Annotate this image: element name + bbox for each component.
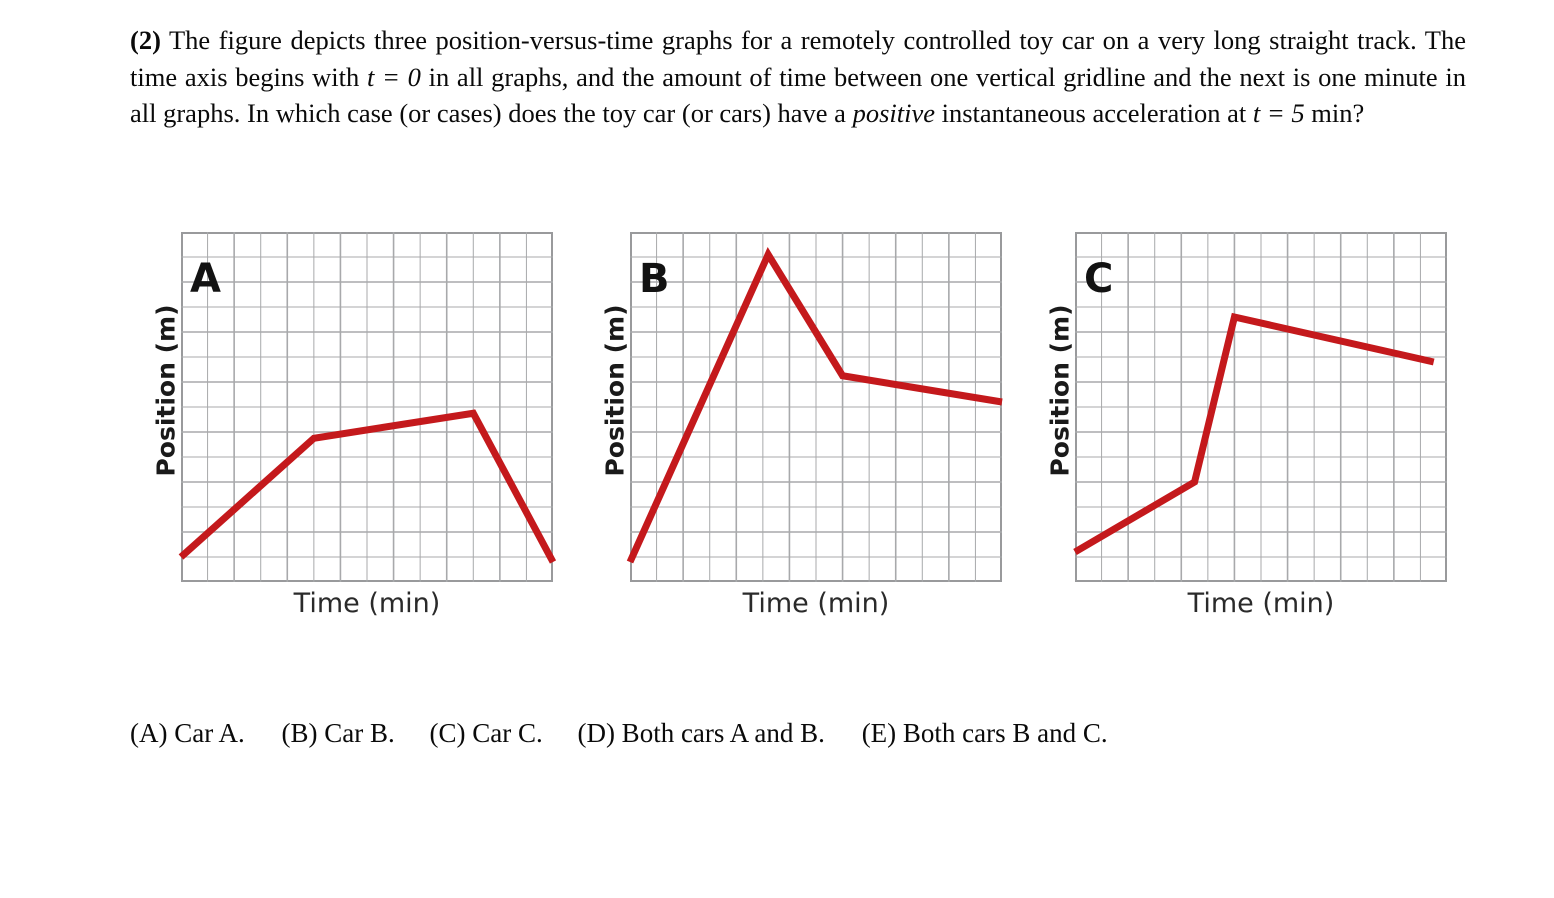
question-text: (2) The figure depicts three position-ve… [130,22,1466,132]
emphasis-positive: positive [853,98,935,128]
question-sentence-4a: does the toy car (or cars) have a [508,98,852,128]
answer-option-d[interactable]: (D) Both cars A and B. [577,718,824,749]
series-polyline-b [630,255,1002,563]
answer-choices: (A) Car A. (B) Car B. (C) Car C. (D) Bot… [130,718,1470,749]
graph-panel-a: Position (m) A Time (min) [132,226,552,646]
panel-label-c: C [1084,259,1113,299]
math-t-equals-5: t = 5 [1253,98,1305,128]
answer-option-b[interactable]: (B) Car B. [281,718,394,749]
data-line-b [630,232,1002,582]
y-axis-label-a: Position (m) [152,261,181,521]
question-sentence-4b: instantaneous acceleration at [935,98,1253,128]
answer-option-a[interactable]: (A) Car A. [130,718,245,749]
question-sentence-2b: in all graphs, and the amount of time [421,62,826,92]
question-number: (2) [130,25,161,55]
y-axis-label-c: Position (m) [1046,261,1075,521]
plot-area-c [1075,232,1447,582]
x-axis-label-a: Time (min) [181,588,553,619]
question-sentence-1: The figure depicts three position-versus… [169,25,1149,55]
y-axis-label-b: Position (m) [601,261,630,521]
x-axis-label-c: Time (min) [1075,588,1447,619]
data-line-a [181,232,553,582]
plot-area-a [181,232,553,582]
series-polyline-c [1075,317,1434,552]
series-polyline-a [181,413,553,562]
panel-label-a: A [190,259,221,299]
panel-label-b: B [639,259,670,299]
graph-panel-b: Position (m) B Time (min) [581,226,1001,646]
math-t-equals-0: t = 0 [367,62,421,92]
plot-area-b [630,232,1002,582]
graph-panel-c: Position (m) C Time (min) [1026,226,1446,646]
answer-option-c[interactable]: (C) Car C. [429,718,542,749]
question-block: (2) The figure depicts three position-ve… [130,22,1466,132]
figure-row: Position (m) A Time (min) Position (m) B… [0,226,1554,646]
question-sentence-4c: min? [1305,98,1365,128]
data-line-c [1075,232,1447,582]
x-axis-label-b: Time (min) [630,588,1002,619]
answer-option-e[interactable]: (E) Both cars B and C. [862,718,1108,749]
